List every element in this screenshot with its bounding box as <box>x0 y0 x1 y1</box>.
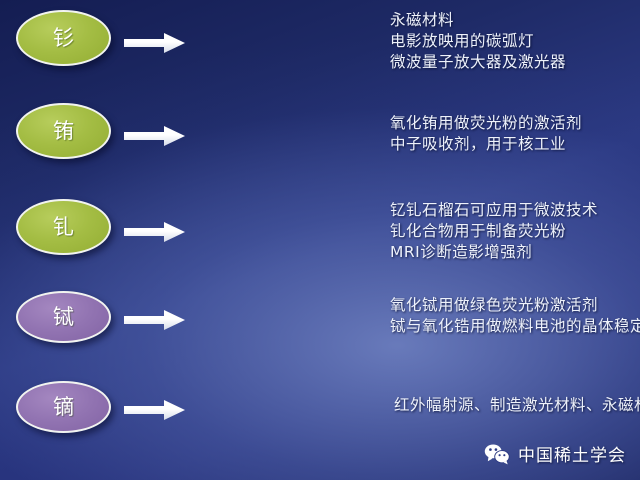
watermark: 中国稀土学会 <box>484 441 626 466</box>
element-chip-label: 铽 <box>53 307 74 328</box>
right-arrow-icon <box>124 309 186 331</box>
element-description: 钇钆石榴石可应用于微波技术 钆化合物用于制备荧光粉 MRI诊断造影增强剂 <box>380 199 640 263</box>
description-line: 铽与氧化锆用做燃料电池的晶体稳定剂 <box>390 316 640 337</box>
description-line: 微波量子放大器及激光器 <box>390 52 640 73</box>
description-line: 中子吸收剂，用于核工业 <box>390 134 640 155</box>
element-description: 氧化铕用做荧光粉的激活剂 中子吸收剂，用于核工业 <box>380 103 640 155</box>
element-row: 铽 氧化铽用做绿色荧光粉激活剂 铽与氧化锆用做燃料电池的晶体稳定剂 <box>0 291 640 343</box>
element-chip-dysprosium[interactable]: 镝 <box>16 381 111 433</box>
element-chip-label: 钐 <box>53 28 74 49</box>
element-description: 氧化铽用做绿色荧光粉激活剂 铽与氧化锆用做燃料电池的晶体稳定剂 <box>380 291 640 337</box>
element-chip-europium[interactable]: 铕 <box>16 103 111 159</box>
element-row: 铕 氧化铕用做荧光粉的激活剂 中子吸收剂，用于核工业 <box>0 103 640 159</box>
description-line: 红外幅射源、制造激光材料、永磁材料 <box>394 395 640 416</box>
element-row: 镝 红外幅射源、制造激光材料、永磁材料 <box>0 381 640 433</box>
description-line: 电影放映用的碳弧灯 <box>390 31 640 52</box>
element-chip-label: 钆 <box>53 217 74 238</box>
element-chip-samarium[interactable]: 钐 <box>16 10 111 66</box>
element-chip-gadolinium[interactable]: 钆 <box>16 199 111 255</box>
description-line: 永磁材料 <box>390 10 640 31</box>
element-chip-terbium[interactable]: 铽 <box>16 291 111 343</box>
element-description: 红外幅射源、制造激光材料、永磁材料 <box>380 381 640 416</box>
description-line: 氧化铽用做绿色荧光粉激活剂 <box>390 295 640 316</box>
element-chip-label: 铕 <box>53 121 74 142</box>
element-chip-label: 镝 <box>53 397 74 418</box>
element-row: 钐 永磁材料 电影放映用的碳弧灯 微波量子放大器及激光器 <box>0 10 640 73</box>
description-line: MRI诊断造影增强剂 <box>390 242 640 263</box>
element-description: 永磁材料 电影放映用的碳弧灯 微波量子放大器及激光器 <box>380 10 640 73</box>
description-line: 氧化铕用做荧光粉的激活剂 <box>390 113 640 134</box>
right-arrow-icon <box>124 125 186 147</box>
right-arrow-icon <box>124 32 186 54</box>
description-line: 钆化合物用于制备荧光粉 <box>390 221 640 242</box>
slide-canvas: 钐 永磁材料 电影放映用的碳弧灯 微波量子放大器及激光器 <box>0 0 640 480</box>
watermark-label: 中国稀土学会 <box>518 441 626 466</box>
wechat-icon <box>484 443 510 465</box>
element-row: 钆 钇钆石榴石可应用于微波技术 钆化合物用于制备荧光粉 MRI诊断造影增强剂 <box>0 199 640 263</box>
right-arrow-icon <box>124 399 186 421</box>
description-line: 钇钆石榴石可应用于微波技术 <box>390 200 640 221</box>
right-arrow-icon <box>124 221 186 243</box>
